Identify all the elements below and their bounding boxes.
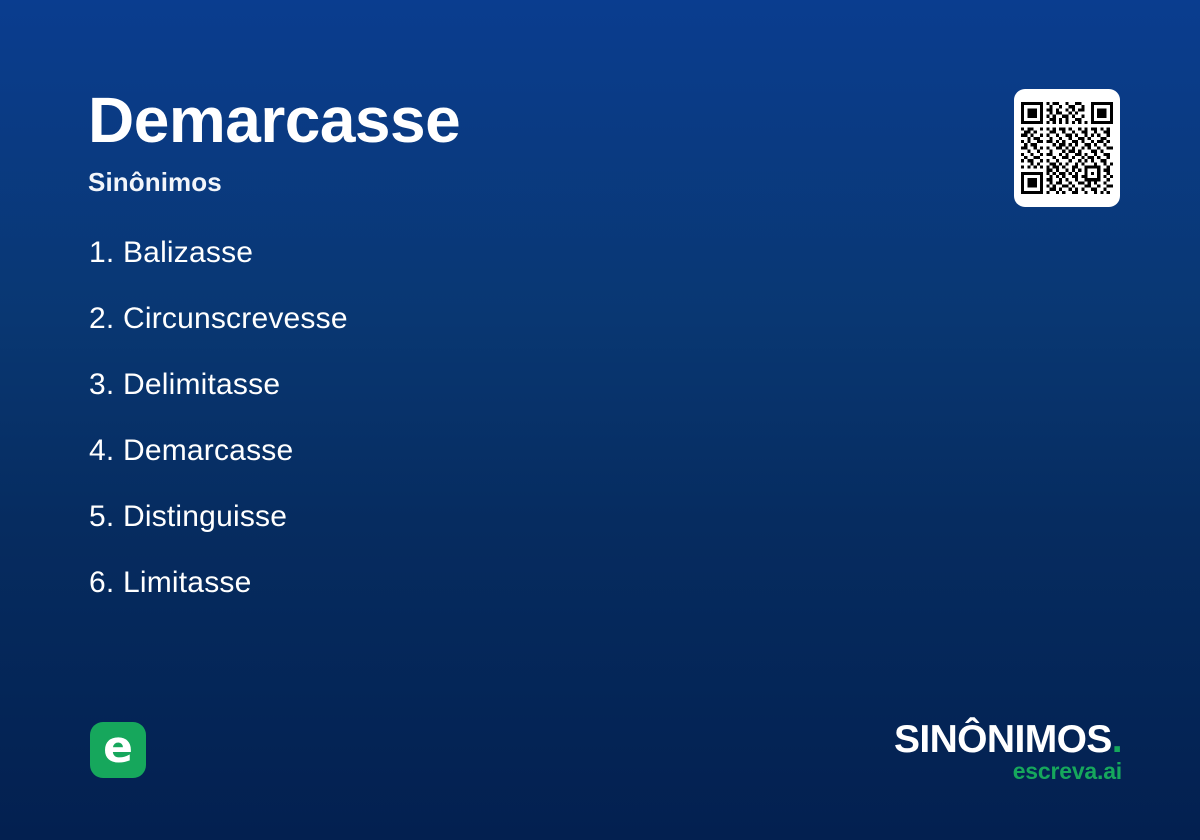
- wordmark-title-text: SINÔNIMOS: [894, 718, 1112, 761]
- list-item-word: Demarcasse: [123, 434, 293, 467]
- list-item-index: 4.: [89, 434, 114, 467]
- page-subtitle: Sinônimos: [88, 169, 788, 195]
- list-item-index: 5.: [89, 500, 114, 533]
- wordmark-dot: .: [1112, 718, 1122, 761]
- qr-code-icon: [1021, 102, 1113, 194]
- list-item-word: Distinguisse: [123, 500, 287, 533]
- list-item: 2. Circunscrevesse: [89, 304, 869, 336]
- escreva-logo-icon[interactable]: e: [90, 722, 146, 778]
- synonyms-list: 1. Balizasse 2. Circunscrevesse 3. Delim…: [89, 238, 869, 600]
- header: Demarcasse Sinônimos: [88, 88, 788, 195]
- list-item-word: Circunscrevesse: [123, 302, 348, 335]
- list-item-index: 6.: [89, 566, 114, 599]
- list-item: 6. Limitasse: [89, 568, 869, 600]
- list-item: 5. Distinguisse: [89, 502, 869, 534]
- escreva-logo-letter: e: [103, 726, 133, 770]
- list-item-index: 2.: [89, 302, 114, 335]
- list-item-word: Limitasse: [123, 566, 252, 599]
- list-item: 1. Balizasse: [89, 238, 869, 270]
- wordmark-title: SINÔNIMOS.: [894, 721, 1122, 758]
- qr-code[interactable]: [1014, 89, 1120, 207]
- list-item-index: 3.: [89, 368, 114, 401]
- list-item-word: Balizasse: [123, 236, 253, 269]
- synonyms-card: Demarcasse Sinônimos: [0, 0, 1200, 840]
- list-item: 4. Demarcasse: [89, 436, 869, 468]
- list-item-index: 1.: [89, 236, 114, 269]
- list-item-word: Delimitasse: [123, 368, 280, 401]
- wordmark-subtitle: escreva.ai: [894, 760, 1122, 783]
- list-item: 3. Delimitasse: [89, 370, 869, 402]
- page-title: Demarcasse: [88, 88, 788, 152]
- brand-wordmark: SINÔNIMOS. escreva.ai: [894, 721, 1122, 783]
